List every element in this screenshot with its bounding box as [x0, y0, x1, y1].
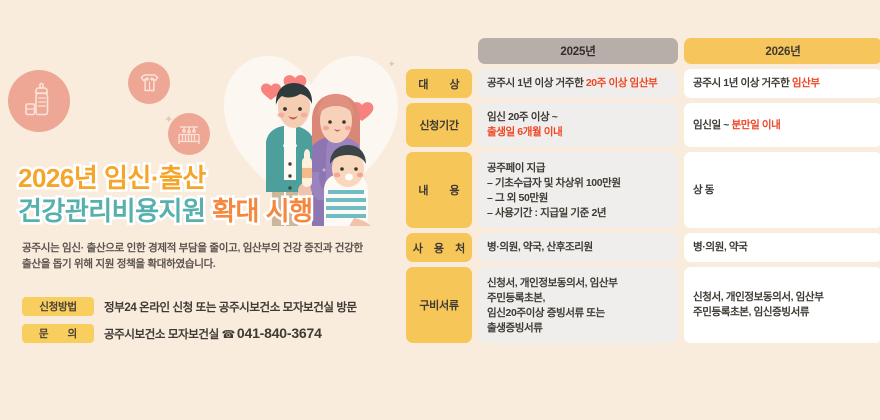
baby-bottle-icon: [8, 70, 70, 132]
cell-text: 주민등록초본,: [487, 291, 617, 306]
subtitle-line-2: 출산을 돕기 위해 지원 정책을 확대하였습니다.: [22, 256, 382, 272]
contact-block: 신청방법 정부24 온라인 신청 또는 공주시보건소 모자보건실 방문 문 의 …: [22, 297, 394, 351]
title-line-1: 2026년 임신·출산: [18, 163, 388, 193]
cell-text: 출생증빙서류: [487, 321, 617, 336]
hero-subtitle: 공주시는 임신· 출산으로 인한 경제적 부담을 줄이고, 임산부의 건강 증진…: [22, 240, 382, 272]
cell-2026-required-documents: 신청서, 개인정보동의서, 임산부 주민등록초본, 임신증빙서류: [684, 267, 880, 343]
table-row: 사 용 처 병·의원, 약국, 산후조리원 병·의원, 약국: [406, 233, 872, 262]
cell-2025-target: 공주시 1년 이상 거주한 20주 이상 임산부: [478, 69, 678, 98]
cell-text: – 기초수급자 및 차상위 100만원: [487, 176, 621, 191]
baby-crib-icon: [168, 113, 210, 155]
cell-text: 병·의원, 약국: [693, 240, 747, 255]
cell-2025-required-documents: 신청서, 개인정보동의서, 임산부 주민등록초본, 임신20주이상 증빙서류 또…: [478, 267, 678, 343]
cell-highlight: 임산부: [792, 77, 820, 89]
table-row: 대 상 공주시 1년 이상 거주한 20주 이상 임산부 공주시 1년 이상 거…: [406, 69, 872, 98]
cell-2025-usage-place: 병·의원, 약국, 산후조리원: [478, 233, 678, 262]
row-label-required-documents: 구비서류: [406, 267, 472, 343]
contact-office-name: 공주시보건소 모자보건실: [104, 329, 219, 341]
row-label-application-period: 신청기간: [406, 103, 472, 147]
table-header-2025: 2025년: [478, 38, 678, 64]
contact-row-inquiry: 문 의 공주시보건소 모자보건실 ☎041-840-3674: [22, 324, 394, 343]
cell-2026-application-period: 임신일 ~ 분만일 이내: [684, 103, 880, 147]
cell-text: 임신 20주 이상 ~: [487, 110, 562, 125]
title-line-2-orange: 확대 시행: [212, 196, 312, 226]
title-line-2-teal: 건강관리비용지원: [18, 196, 205, 226]
comparison-table: 2025년 2026년 대 상 공주시 1년 이상 거주한 20주 이상 임산부…: [400, 0, 880, 420]
poster-root: ✦ ✦ ✦: [0, 0, 880, 420]
cell-highlight: 분만일 이내: [732, 119, 781, 131]
cell-text: 공주시 1년 이상 거주한: [487, 77, 586, 89]
contact-tag-apply-method: 신청방법: [22, 297, 94, 316]
cell-2025-content: 공주페이 지급 – 기초수급자 및 차상위 100만원 – 그 외 50만원 –…: [478, 152, 678, 228]
cell-text: 임신20주이상 증빙서류 또는: [487, 306, 617, 321]
table-row: 내 용 공주페이 지급 – 기초수급자 및 차상위 100만원 – 그 외 50…: [406, 152, 872, 228]
hero-title: 2026년 임신·출산 건강관리비용지원 확대 시행: [18, 163, 388, 226]
contact-phone-number: 041-840-3674: [237, 325, 322, 341]
cell-text: 신청서, 개인정보동의서, 임산부: [693, 290, 823, 305]
baby-clothes-icon: [128, 62, 170, 104]
phone-icon: ☎: [222, 329, 235, 341]
cell-highlight: 출생일 6개월 이내: [487, 125, 562, 140]
contact-tag-inquiry: 문 의: [22, 324, 94, 343]
cell-2025-application-period: 임신 20주 이상 ~출생일 6개월 이내: [478, 103, 678, 147]
table-header-spacer: [406, 38, 472, 64]
sparkle-icon: ✦: [164, 115, 173, 126]
cell-text: 병·의원, 약국, 산후조리원: [487, 240, 593, 255]
cell-2026-target: 공주시 1년 이상 거주한 임산부: [684, 69, 880, 98]
cell-2026-usage-place: 병·의원, 약국: [684, 233, 880, 262]
row-label-usage-place: 사 용 처: [406, 233, 472, 262]
table-row: 구비서류 신청서, 개인정보동의서, 임산부 주민등록초본, 임신20주이상 증…: [406, 267, 872, 343]
cell-text: – 사용기간 : 지급일 기준 2년: [487, 206, 621, 221]
cell-text: – 그 외 50만원: [487, 191, 621, 206]
title-line-2: 건강관리비용지원 확대 시행: [18, 196, 388, 226]
contact-text-inquiry: 공주시보건소 모자보건실 ☎041-840-3674: [104, 325, 322, 342]
table-header-2026: 2026년: [684, 38, 880, 64]
cell-2026-content: 상 동: [684, 152, 880, 228]
cell-text: 공주시 1년 이상 거주한: [693, 77, 792, 89]
cell-text: 주민등록초본, 임신증빙서류: [693, 305, 823, 320]
cell-highlight: 20주 이상 임산부: [586, 77, 657, 89]
cell-text: 임신일 ~: [693, 119, 732, 131]
cell-text: 신청서, 개인정보동의서, 임산부: [487, 276, 617, 291]
row-label-target: 대 상: [406, 69, 472, 98]
contact-text-apply-method: 정부24 온라인 신청 또는 공주시보건소 모자보건실 방문: [104, 299, 357, 315]
table-header-row: 2025년 2026년: [406, 38, 872, 64]
subtitle-line-1: 공주시는 임신· 출산으로 인한 경제적 부담을 줄이고, 임산부의 건강 증진…: [22, 240, 382, 256]
cell-text: 상 동: [693, 183, 714, 198]
cell-text: 공주페이 지급: [487, 161, 621, 176]
table-row: 신청기간 임신 20주 이상 ~출생일 6개월 이내 임신일 ~ 분만일 이내: [406, 103, 872, 147]
row-label-content: 내 용: [406, 152, 472, 228]
contact-row-apply-method: 신청방법 정부24 온라인 신청 또는 공주시보건소 모자보건실 방문: [22, 297, 394, 316]
illustration-panel: ✦ ✦ ✦: [0, 0, 400, 420]
